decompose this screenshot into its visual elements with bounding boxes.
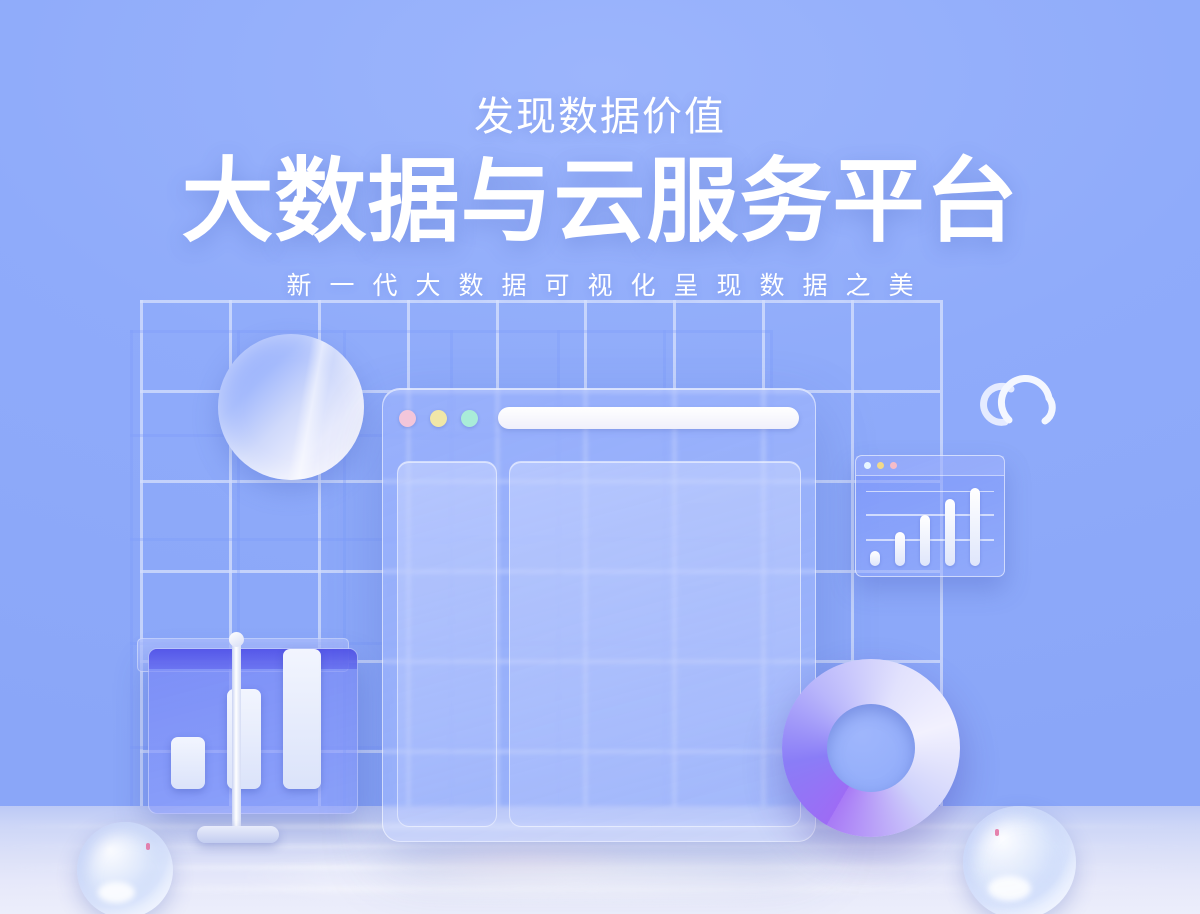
hero-banner: 发现数据价值 大数据与云服务平台 新一代大数据可视化呈现数据之美 bbox=[0, 0, 1200, 914]
stand-knob bbox=[229, 632, 244, 647]
glass-browser-window[interactable] bbox=[382, 388, 816, 842]
widget-bar bbox=[945, 499, 955, 566]
window-title-bar bbox=[383, 389, 815, 447]
widget-dot-1[interactable] bbox=[864, 462, 871, 469]
close-dot[interactable] bbox=[399, 410, 416, 427]
bar-chart-widget[interactable] bbox=[855, 455, 1005, 577]
glass-disc bbox=[218, 334, 364, 480]
bar-chart-board bbox=[148, 648, 358, 814]
widget-chart-area bbox=[856, 476, 1004, 576]
grid-line-horizontal bbox=[130, 330, 770, 333]
grid-line-vertical bbox=[130, 330, 133, 850]
board-bar bbox=[171, 737, 205, 789]
glass-ball-right bbox=[963, 806, 1076, 914]
donut-ring bbox=[782, 659, 960, 837]
widget-dot-2[interactable] bbox=[877, 462, 884, 469]
minimize-dot[interactable] bbox=[430, 410, 447, 427]
address-bar[interactable] bbox=[498, 407, 799, 429]
glass-ball-left bbox=[77, 822, 173, 914]
content-panel[interactable] bbox=[509, 461, 801, 827]
board-bar bbox=[283, 649, 321, 789]
widget-bar bbox=[895, 532, 905, 566]
page-title: 大数据与云服务平台 bbox=[0, 154, 1200, 252]
widget-title-bar bbox=[856, 456, 1004, 476]
tagline-text: 新一代大数据可视化呈现数据之美 bbox=[0, 266, 1200, 302]
board-header bbox=[149, 649, 357, 669]
widget-bar bbox=[870, 551, 880, 566]
sidebar-panel[interactable] bbox=[397, 461, 497, 827]
cloud-icon bbox=[975, 362, 1067, 428]
hero-copy: 发现数据价值 大数据与云服务平台 新一代大数据可视化呈现数据之美 bbox=[0, 0, 1200, 302]
maximize-dot[interactable] bbox=[461, 410, 478, 427]
widget-bar bbox=[920, 515, 930, 566]
stand-base bbox=[197, 826, 279, 843]
stand-pole bbox=[232, 638, 241, 838]
widget-dot-3[interactable] bbox=[890, 462, 897, 469]
eyebrow-text: 发现数据价值 bbox=[0, 84, 1200, 142]
widget-bar bbox=[970, 488, 980, 566]
